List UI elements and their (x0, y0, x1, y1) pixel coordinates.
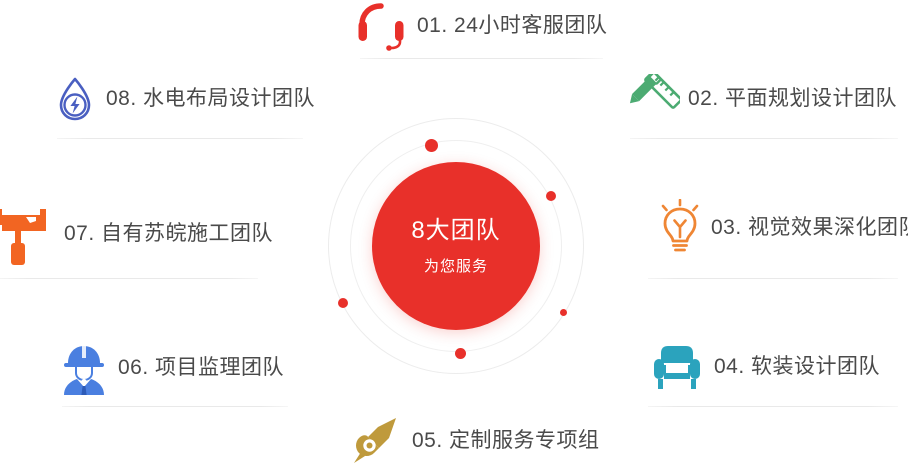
dot-left (338, 298, 348, 308)
center-core: 8大团队 为您服务 (372, 162, 540, 330)
divider-03 (648, 278, 898, 279)
lightbulb-icon (655, 199, 705, 257)
center-title: 8大团队 (411, 219, 500, 243)
dot-top (425, 139, 438, 152)
service-item-07[interactable]: 07. 自有苏皖施工团队 (0, 200, 296, 268)
divider-01 (360, 58, 603, 59)
service-label-08: 08. 水电布局设计团队 (106, 87, 315, 110)
service-item-02[interactable]: 02. 平面规划设计团队 (628, 72, 898, 126)
pencil-ruler-icon (628, 74, 680, 124)
service-item-04[interactable]: 04. 软装设计团队 (652, 338, 902, 396)
divider-02 (630, 138, 898, 139)
dot-right-lower (560, 309, 567, 316)
service-item-08[interactable]: 08. 水电布局设计团队 (52, 72, 308, 126)
service-label-06: 06. 项目监理团队 (118, 356, 284, 379)
service-label-07: 07. 自有苏皖施工团队 (64, 222, 273, 245)
divider-08 (57, 138, 303, 139)
dot-right-upper (546, 191, 556, 201)
headset-icon (355, 1, 407, 51)
dot-bottom (455, 348, 466, 359)
divider-04 (648, 406, 898, 407)
service-item-01[interactable]: 01. 24小时客服团队 (355, 0, 605, 52)
infographic-canvas: 8大团队 为您服务 01. 24小时客服团队 (0, 0, 908, 475)
divider-06 (62, 406, 288, 407)
pen-nib-icon (348, 414, 402, 468)
worker-icon (58, 341, 110, 395)
service-label-03: 03. 视觉效果深化团队 (711, 216, 908, 239)
paint-roller-icon (0, 201, 58, 267)
service-item-06[interactable]: 06. 项目监理团队 (58, 340, 308, 396)
center-subtitle: 为您服务 (424, 259, 488, 274)
service-label-01: 01. 24小时客服团队 (417, 14, 607, 37)
service-item-03[interactable]: 03. 视觉效果深化团队 (655, 198, 908, 258)
service-label-02: 02. 平面规划设计团队 (688, 87, 897, 110)
divider-07 (0, 278, 258, 279)
armchair-icon (652, 341, 702, 393)
service-label-04: 04. 软装设计团队 (714, 355, 880, 378)
water-power-icon (52, 75, 98, 123)
service-label-05: 05. 定制服务专项组 (412, 429, 600, 452)
center-hub: 8大团队 为您服务 (328, 118, 584, 374)
service-item-05[interactable]: 05. 定制服务专项组 (348, 412, 608, 470)
